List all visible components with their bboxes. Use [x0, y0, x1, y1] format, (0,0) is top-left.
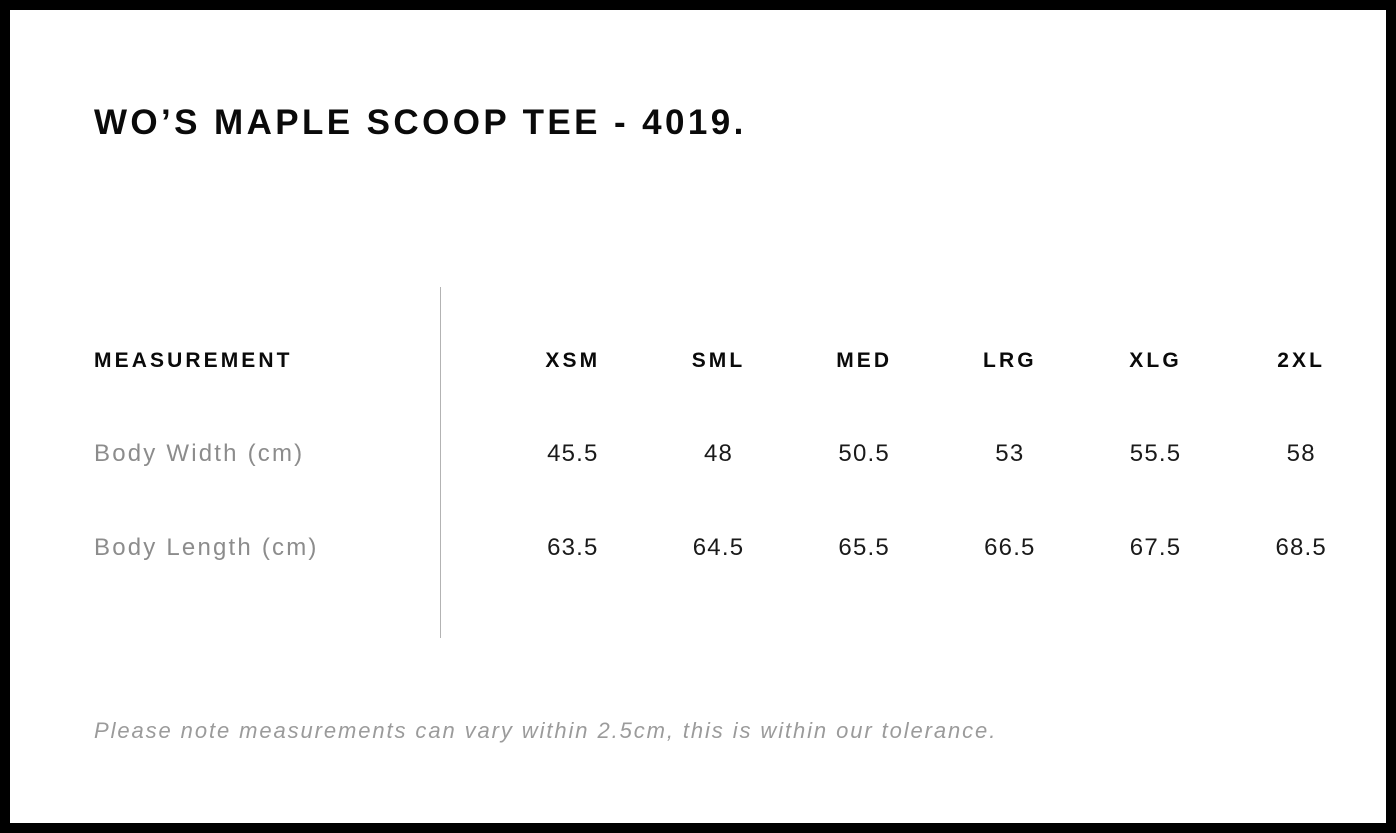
column-header-sml: SML	[646, 350, 792, 371]
cell-body-width-xsm: 45.5	[500, 442, 646, 466]
cell-body-length-med: 65.5	[791, 536, 937, 560]
column-header-xlg: XLG	[1083, 350, 1229, 371]
row-label-body-length: Body Length (cm)	[94, 536, 319, 560]
row-values-body-width: 45.5 48 50.5 53 55.5 58	[500, 442, 1374, 466]
cell-body-width-med: 50.5	[791, 442, 937, 466]
cell-body-width-sml: 48	[646, 442, 792, 466]
size-chart-card: WO’S MAPLE SCOOP TEE - 4019. MEASUREMENT…	[0, 0, 1396, 833]
size-column-headers: XSM SML MED LRG XLG 2XL	[500, 350, 1374, 371]
column-header-2xl: 2XL	[1228, 350, 1374, 371]
page-title: WO’S MAPLE SCOOP TEE - 4019.	[94, 105, 747, 140]
size-table: MEASUREMENT XSM SML MED LRG XLG 2XL Body…	[94, 350, 1374, 630]
cell-body-width-xlg: 55.5	[1083, 442, 1229, 466]
tolerance-note: Please note measurements can vary within…	[94, 720, 997, 742]
column-header-measurement: MEASUREMENT	[94, 350, 293, 371]
column-header-lrg: LRG	[937, 350, 1083, 371]
cell-body-width-2xl: 58	[1228, 442, 1374, 466]
cell-body-length-2xl: 68.5	[1228, 536, 1374, 560]
column-header-xsm: XSM	[500, 350, 646, 371]
cell-body-width-lrg: 53	[937, 442, 1083, 466]
cell-body-length-sml: 64.5	[646, 536, 792, 560]
column-header-med: MED	[791, 350, 937, 371]
size-chart-inner: WO’S MAPLE SCOOP TEE - 4019. MEASUREMENT…	[10, 10, 1386, 823]
cell-body-length-xsm: 63.5	[500, 536, 646, 560]
cell-body-length-lrg: 66.5	[937, 536, 1083, 560]
table-row: Body Width (cm) 45.5 48 50.5 53 55.5 58	[94, 442, 1374, 536]
table-header-row: MEASUREMENT XSM SML MED LRG XLG 2XL	[94, 350, 1374, 442]
cell-body-length-xlg: 67.5	[1083, 536, 1229, 560]
table-row: Body Length (cm) 63.5 64.5 65.5 66.5 67.…	[94, 536, 1374, 630]
row-values-body-length: 63.5 64.5 65.5 66.5 67.5 68.5	[500, 536, 1374, 560]
row-label-body-width: Body Width (cm)	[94, 442, 304, 466]
